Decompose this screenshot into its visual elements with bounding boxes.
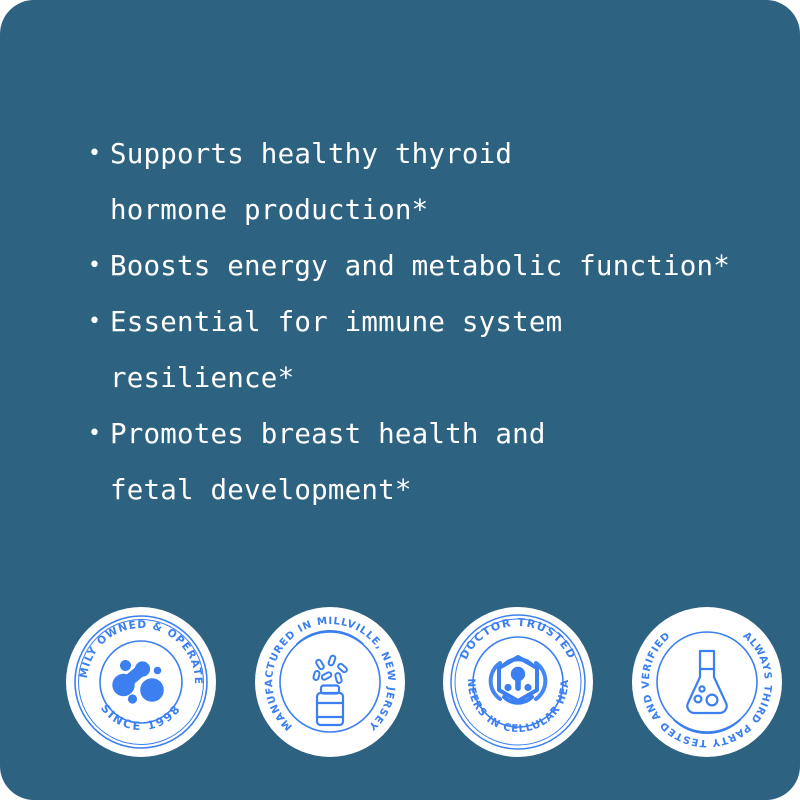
bullet-icon: •	[88, 294, 110, 350]
badge-family-owned: FAMILY OWNED & OPERATED SINCE 1998	[66, 607, 216, 757]
list-item: • Boosts energy and metabolic function*	[88, 238, 748, 294]
benefit-text: Supports healthy thyroid hormone product…	[110, 126, 748, 238]
bullet-icon: •	[88, 238, 110, 294]
list-item: • Promotes breast health and fetal devel…	[88, 406, 748, 518]
badge-doctor-trusted: DOCTOR TRUSTED PIONEERS IN CELLULAR HEAL…	[443, 607, 593, 757]
badge-manufactured-in-millville: MANUFACTURED IN MILLVILLE, NEW JERSEY	[255, 607, 405, 757]
benefit-text: Essential for immune system resilience*	[110, 294, 748, 406]
benefits-list: • Supports healthy thyroid hormone produ…	[88, 126, 748, 518]
badge-third-party-tested: ALWAYS THIRD PARTY TESTED AND VERIFIED	[632, 607, 782, 757]
bullet-icon: •	[88, 126, 110, 182]
bullet-icon: •	[88, 406, 110, 462]
trust-badge-row: FAMILY OWNED & OPERATED SINCE 1998	[66, 607, 782, 757]
benefit-text: Boosts energy and metabolic function*	[110, 238, 748, 294]
list-item: • Supports healthy thyroid hormone produ…	[88, 126, 748, 238]
product-benefits-card: • Supports healthy thyroid hormone produ…	[0, 0, 800, 800]
list-item: • Essential for immune system resilience…	[88, 294, 748, 406]
benefit-text: Promotes breast health and fetal develop…	[110, 406, 748, 518]
